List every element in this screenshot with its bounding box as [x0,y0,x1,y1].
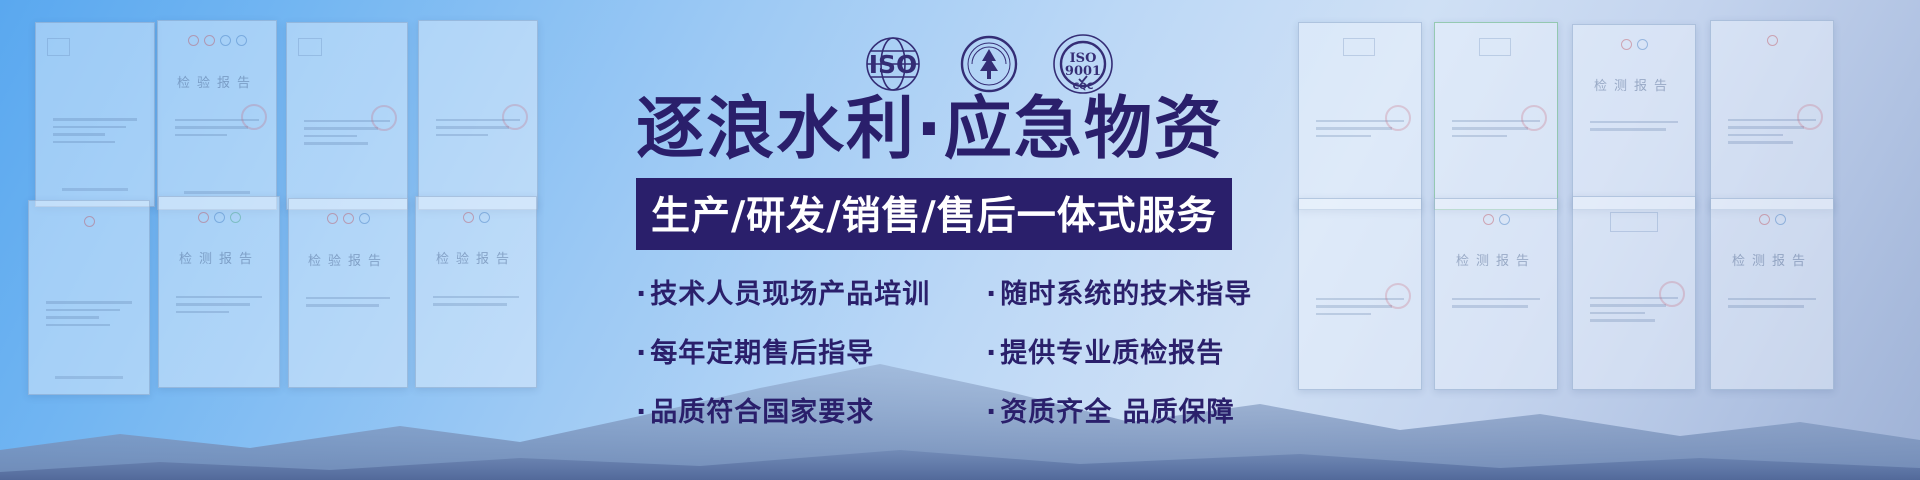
promo-banner: 检验报告 检测报告 [0,0,1920,480]
cnas-seal-icon [220,35,231,46]
feature-list: ·技术人员现场产品培训 ·随时系统的技术指导 ·每年定期售后指导 ·提供专业质检… [636,272,1336,429]
cert-lines [1590,121,1678,136]
cert-stamp-icon [1521,105,1547,131]
cqc-seal-icon [1483,214,1494,225]
certification-badges: ISO ISO 9001 CQC [860,33,1114,95]
cert-title: 检验报告 [158,72,276,91]
iso-globe-badge: ISO [860,33,926,95]
certificate-thumb [35,22,155,207]
svg-text:9001: 9001 [1065,64,1101,79]
env-seal-icon [230,212,241,223]
feature-label: 资质齐全 品质保障 [1000,397,1234,428]
feature-item: ·随时系统的技术指导 [986,272,1336,311]
subtitle-bar: 生产/研发/销售/售后一体式服务 [636,178,1232,250]
cert-footer-line [184,191,250,194]
feature-item: ·资质齐全 品质保障 [986,390,1336,429]
bullet-dot-icon: · [636,338,647,369]
cert-title: 检测报告 [1573,75,1695,94]
cma-seal-icon [359,213,370,224]
cert-seal-row [1450,216,1543,222]
cert-lines [433,296,519,311]
cqc-seal-icon [84,216,95,227]
bullet-dot-icon: · [636,397,647,428]
feature-label: 提供专业质检报告 [1000,338,1224,369]
ccc-seal-icon [343,213,354,224]
cert-stamp-icon [1797,104,1823,130]
feature-item: ·每年定期售后指导 [636,331,976,370]
iso-14000-badge [960,35,1018,93]
feature-label: 品质符合国家要求 [650,397,874,428]
cert-title: 检验报告 [289,250,407,269]
cert-topbox [1610,212,1659,231]
cert-lines [53,118,138,148]
feature-label: 技术人员现场产品培训 [650,279,930,310]
svg-text:ISO: ISO [869,50,918,79]
cqc-seal-icon [188,35,199,46]
cnas-seal-icon [479,212,490,223]
cert-title: 检测报告 [1435,250,1557,269]
cnas-seal-icon [1499,214,1510,225]
cqc-seal-icon [198,212,209,223]
bullet-dot-icon: · [986,279,997,310]
cert-seal-row [173,214,264,220]
cqc-seal-icon [327,213,338,224]
bullet-dot-icon: · [986,397,997,428]
cert-stamp-icon [502,104,528,130]
cert-seal-row [1726,38,1819,44]
certificate-thumb [1434,22,1558,210]
cert-footer-line [62,188,128,191]
cert-title: 检测报告 [1711,250,1833,269]
feature-label: 每年定期售后指导 [650,338,874,369]
cert-stamp-icon [241,104,267,130]
cnas-seal-icon [1775,214,1786,225]
certificate-thumb [1710,20,1834,210]
cert-lines [176,296,262,319]
cert-stamp-icon [1385,283,1411,309]
feature-item: ·品质符合国家要求 [636,390,976,429]
feature-label: 随时系统的技术指导 [1000,279,1252,310]
cert-seal-row [1726,216,1819,222]
cert-title: 检验报告 [416,248,536,267]
cert-stamp-icon [1659,281,1685,307]
cert-topbox [298,38,322,57]
cert-stamp-icon [1385,105,1411,131]
cert-lines [1728,298,1816,313]
cert-stamp-icon [371,105,397,131]
cqc-seal-icon [463,212,474,223]
ccc-seal-icon [204,35,215,46]
bullet-dot-icon: · [636,279,647,310]
cqc-seal-icon [1621,39,1632,50]
cma-seal-icon [236,35,247,46]
feature-item: ·提供专业质检报告 [986,331,1336,370]
cert-seal-row [430,214,521,220]
cert-lines [46,301,132,331]
cnas-seal-icon [1637,39,1648,50]
banner-text-block: 逐浪水利·应急物资 生产/研发/销售/售后一体式服务 ·技术人员现场产品培训 ·… [636,96,1336,429]
cert-lines [1452,298,1540,313]
bullet-dot-icon: · [986,338,997,369]
feature-item: ·技术人员现场产品培训 [636,272,976,311]
certificate-thumb [286,22,408,210]
cert-seal-row [43,218,134,224]
cert-seal-row [172,38,262,44]
iso-9001-cqc-badge: ISO 9001 CQC [1052,33,1114,95]
cert-title: 检测报告 [159,248,279,267]
certificate-thumb [418,20,538,210]
cqc-seal-icon [1759,214,1770,225]
cqc-seal-icon [1767,35,1778,46]
certificate-thumb: 检测报告 [1572,24,1696,210]
cert-topbox [47,38,71,56]
page-title: 逐浪水利·应急物资 [636,96,1336,164]
cnas-seal-icon [214,212,225,223]
cert-seal-row [1588,42,1681,48]
cert-lines [306,297,391,312]
cert-topbox [1343,38,1375,57]
cert-topbox [1479,38,1511,57]
cert-seal-row [303,216,393,222]
certificate-thumb: 检验报告 [157,20,277,210]
